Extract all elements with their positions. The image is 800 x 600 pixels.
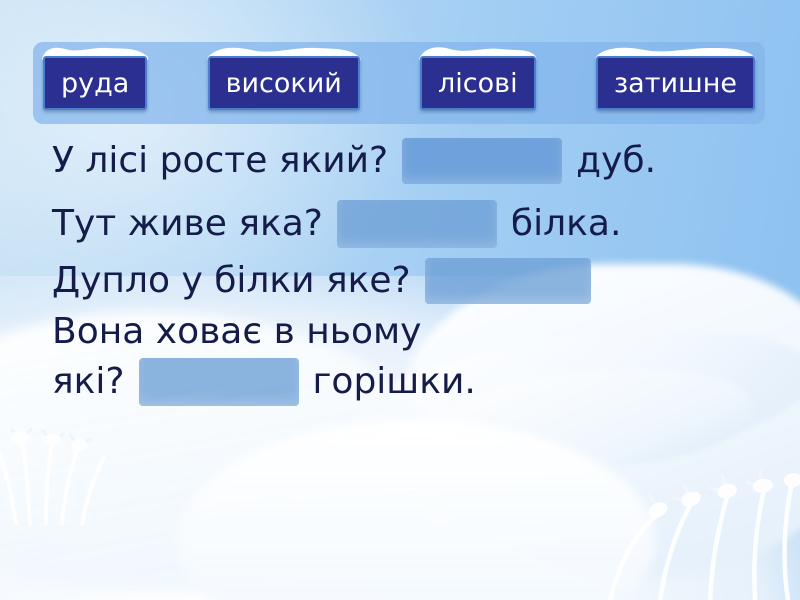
word-tile-0-wrapper: руда <box>43 56 147 110</box>
sentence-line-1: У лісі росте який? дуб. <box>0 138 800 184</box>
sentence-1-after: дуб. <box>576 143 656 179</box>
sentence-2-before: Тут живе яка? <box>52 206 323 242</box>
word-tile-2-wrapper: лісові <box>420 56 536 110</box>
sentence-2-after: білка. <box>511 206 621 242</box>
sentence-line-4: Вона ховає в ньому <box>0 314 800 350</box>
sentence-line-2: Тут живе яка? білка. <box>0 200 800 248</box>
sentence-list: У лісі росте який? дуб. Тут живе яка? бі… <box>0 138 800 406</box>
sentence-3-before: Дупло у білки яке? <box>52 263 411 299</box>
drop-zone-1[interactable] <box>402 138 562 184</box>
drop-zone-2[interactable] <box>337 200 497 248</box>
sentence-5-before: які? <box>52 364 125 400</box>
word-tile-lisovi[interactable]: лісові <box>420 56 536 110</box>
word-tile-1-wrapper: високий <box>208 56 360 110</box>
sentence-5-after: горішки. <box>313 364 476 400</box>
winter-exercise-screen: руда високий лісові <box>0 0 800 600</box>
sentence-line-5: які? горішки. <box>0 358 800 406</box>
sentence-line-3: Дупло у білки яке? <box>0 258 800 304</box>
word-tile-tray: руда високий лісові <box>33 42 765 124</box>
word-tile-ruda[interactable]: руда <box>43 56 147 110</box>
word-tile-3-wrapper: затишне <box>596 56 755 110</box>
sentence-1-before: У лісі росте який? <box>52 143 388 179</box>
word-tile-zatyshne[interactable]: затишне <box>596 56 755 110</box>
drop-zone-3[interactable] <box>425 258 591 304</box>
drop-zone-4[interactable] <box>139 358 299 406</box>
sentence-4-before: Вона ховає в ньому <box>52 314 421 350</box>
word-tile-vysokyi[interactable]: високий <box>208 56 360 110</box>
